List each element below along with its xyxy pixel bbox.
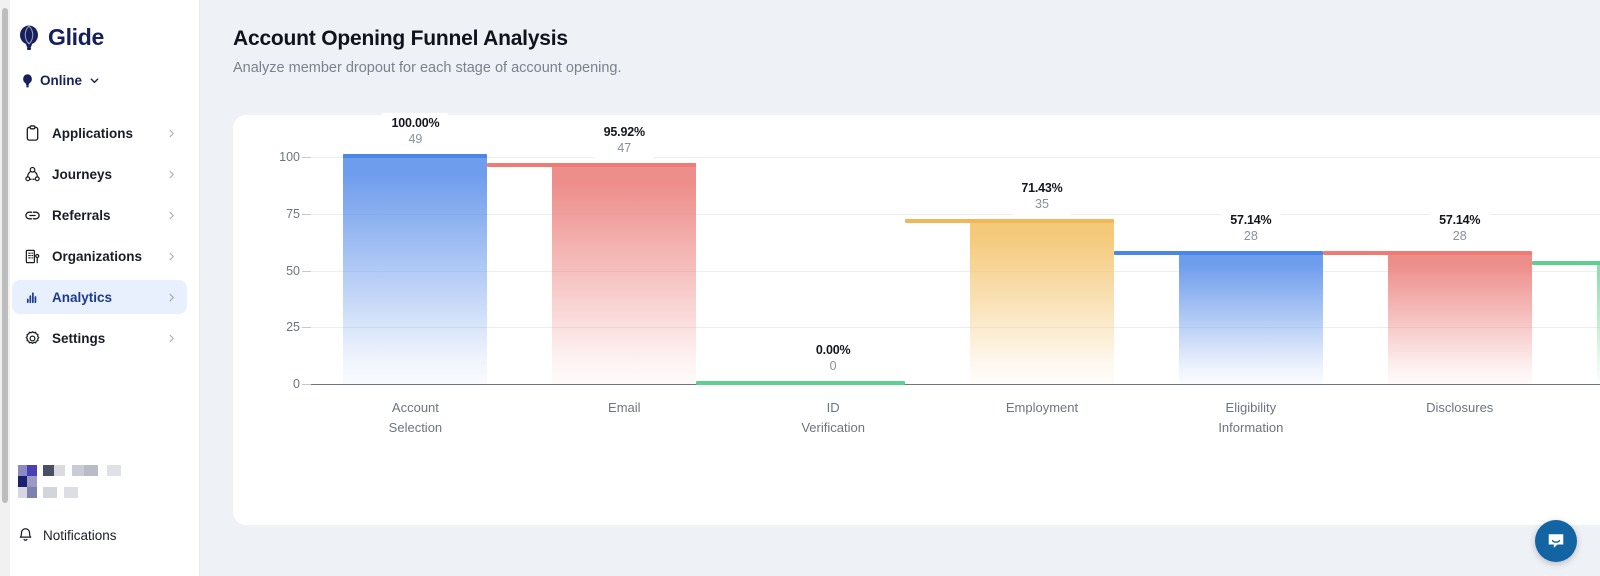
sidebar-scrollbar-track[interactable]	[0, 0, 10, 576]
sidebar-item-label: Applications	[52, 126, 166, 141]
app-root: Glide Online Applications	[0, 0, 1600, 576]
chart-bar[interactable]	[343, 157, 487, 384]
journeys-icon	[24, 166, 41, 183]
chevron-right-icon	[166, 251, 177, 262]
sidebar-item-analytics[interactable]: Analytics	[12, 280, 187, 314]
chart-data-label: 71.43%35	[1012, 178, 1071, 215]
y-axis-tick-label: 25	[286, 320, 300, 334]
chart-bar-connector	[1323, 251, 1532, 255]
chevron-right-icon	[166, 333, 177, 344]
sidebar-item-label: Organizations	[52, 249, 166, 264]
y-axis-tick-mark	[302, 214, 311, 215]
chevron-down-icon	[89, 75, 100, 86]
chart-bar-fill	[343, 157, 487, 384]
chart-data-label-count: 28	[1439, 229, 1480, 243]
page-title: Account Opening Funnel Analysis	[233, 27, 1600, 51]
sidebar: Glide Online Applications	[0, 0, 200, 576]
chart-data-label: 57.14%28	[1221, 210, 1280, 247]
chart-bar[interactable]	[552, 166, 696, 384]
gridline	[311, 214, 1600, 215]
chart-data-label-percent: 0.00%	[816, 343, 850, 357]
chart-bar-fill	[970, 222, 1114, 384]
building-icon	[24, 248, 41, 265]
y-axis-tick-label: 100	[279, 150, 300, 164]
chart-data-label: 95.92%47	[595, 122, 654, 159]
chart-bar[interactable]	[1388, 254, 1532, 384]
chevron-right-icon	[166, 210, 177, 221]
chart-data-label-percent: 100.00%	[391, 116, 439, 130]
brand-name: Glide	[48, 24, 104, 51]
y-axis-tick-mark	[302, 327, 311, 328]
chart-bar-connector	[343, 154, 487, 158]
sidebar-scrollbar-thumb[interactable]	[2, 8, 8, 503]
page-header: Account Opening Funnel Analysis Analyze …	[200, 0, 1600, 76]
chart-bar-connector	[905, 219, 1114, 223]
funnel-chart-card: 0255075100100.00%49Account Selection95.9…	[233, 115, 1600, 525]
x-axis-label: Disclosures	[1426, 398, 1493, 418]
chart-bar[interactable]	[970, 222, 1114, 384]
chevron-right-icon	[166, 292, 177, 303]
sidebar-nav: Applications Journeys	[0, 116, 199, 355]
y-axis-tick-label: 50	[286, 264, 300, 278]
chevron-right-icon	[166, 128, 177, 139]
gear-icon	[24, 330, 41, 347]
gridline	[311, 157, 1600, 158]
sidebar-item-label: Settings	[52, 331, 166, 346]
x-axis-label: Eligibility Information	[1218, 398, 1283, 438]
chart-data-label-count: 49	[391, 132, 439, 146]
x-axis-label: Email	[608, 398, 641, 418]
chart-bar-connector	[1114, 251, 1323, 255]
balloon-logo-icon	[18, 25, 40, 51]
chart-bar-fill	[552, 166, 696, 384]
chart-data-label-percent: 71.43%	[1021, 181, 1062, 195]
bar-chart-icon	[24, 289, 41, 306]
sidebar-item-applications[interactable]: Applications	[12, 116, 187, 150]
chart-data-label-count: 0	[816, 359, 850, 373]
chart-bar-fill	[1179, 254, 1323, 384]
chart-data-label: 100.00%49	[382, 113, 448, 150]
notifications-label: Notifications	[43, 528, 117, 543]
chat-launcher-button[interactable]	[1535, 520, 1577, 562]
chart-data-label-count: 47	[604, 141, 645, 155]
y-axis-tick-mark	[302, 384, 311, 385]
clipboard-icon	[24, 125, 41, 142]
chart-bar[interactable]	[1179, 254, 1323, 384]
chart-data-label: 57.14%28	[1430, 210, 1489, 247]
chart-bar-fill	[1388, 254, 1532, 384]
chart-data-label-percent: 57.14%	[1439, 213, 1480, 227]
chart-bar-connector	[487, 163, 696, 167]
sidebar-item-journeys[interactable]: Journeys	[12, 157, 187, 191]
chat-bubble-icon	[1546, 531, 1566, 551]
chart-data-label-count: 35	[1021, 197, 1062, 211]
chart-data-label-count: 28	[1230, 229, 1271, 243]
chart-bar-fill	[1597, 264, 1600, 384]
x-axis-label: ID Verification	[801, 398, 865, 438]
y-axis-tick-label: 75	[286, 207, 300, 221]
link-icon	[24, 207, 41, 224]
chevron-right-icon	[166, 169, 177, 180]
sidebar-item-referrals[interactable]: Referrals	[12, 198, 187, 232]
funnel-chart: 0255075100100.00%49Account Selection95.9…	[233, 115, 1600, 525]
sidebar-item-organizations[interactable]: Organizations	[12, 239, 187, 273]
brand[interactable]: Glide	[0, 0, 199, 51]
page-subtitle: Analyze member dropout for each stage of…	[233, 60, 1600, 76]
bell-icon	[18, 527, 33, 543]
chart-plot-area: 0255075100100.00%49Account Selection95.9…	[311, 157, 1600, 384]
user-profile-redacted[interactable]	[18, 465, 121, 498]
sidebar-item-settings[interactable]: Settings	[12, 321, 187, 355]
chart-data-label-percent: 57.14%	[1230, 213, 1271, 227]
sidebar-item-label: Analytics	[52, 290, 166, 305]
gridline	[311, 384, 1600, 385]
chart-bar[interactable]	[1597, 264, 1600, 384]
environment-label: Online	[40, 73, 82, 88]
x-axis-label: Employment	[1006, 398, 1078, 418]
y-axis-tick-mark	[302, 157, 311, 158]
chart-data-label: 0.00%0	[807, 340, 859, 377]
sidebar-item-label: Referrals	[52, 208, 166, 223]
y-axis-tick-label: 0	[293, 377, 300, 391]
y-axis-tick-mark	[302, 271, 311, 272]
x-axis-label: Account Selection	[389, 398, 442, 438]
chart-bar-connector	[1532, 261, 1600, 265]
environment-selector[interactable]: Online	[0, 51, 199, 88]
balloon-icon	[22, 74, 33, 88]
chart-data-label-percent: 95.92%	[604, 125, 645, 139]
chart-bar-connector	[696, 381, 905, 385]
notifications-button[interactable]: Notifications	[18, 527, 117, 543]
main-content: Account Opening Funnel Analysis Analyze …	[200, 0, 1600, 576]
sidebar-item-label: Journeys	[52, 167, 166, 182]
